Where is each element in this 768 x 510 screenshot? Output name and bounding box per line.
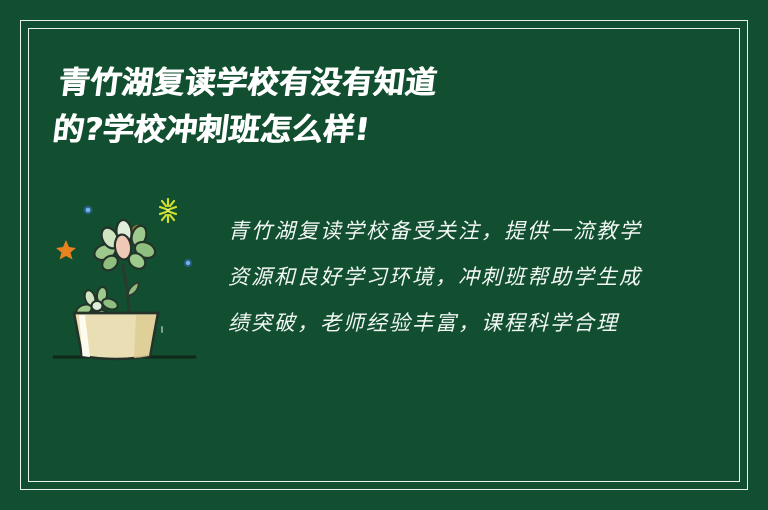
yellow-starburst-icon <box>160 199 176 222</box>
orange-star-icon <box>56 240 76 260</box>
blue-dot-upper-left-icon <box>84 206 93 215</box>
blue-dot-right-icon <box>184 259 192 267</box>
page-title: 青竹湖复读学校有没有知道的?学校冲刺班怎么样! <box>50 60 482 154</box>
plant-flower-head <box>92 219 157 273</box>
stem-side-leaf <box>128 282 139 296</box>
potted-plant-illustration <box>52 190 212 380</box>
body-paragraph: 青竹湖复读学校备受关注，提供一流教学资源和良好学习环境，冲刺班帮助学生成绩突破，… <box>228 208 648 346</box>
flower-pot <box>74 313 162 359</box>
